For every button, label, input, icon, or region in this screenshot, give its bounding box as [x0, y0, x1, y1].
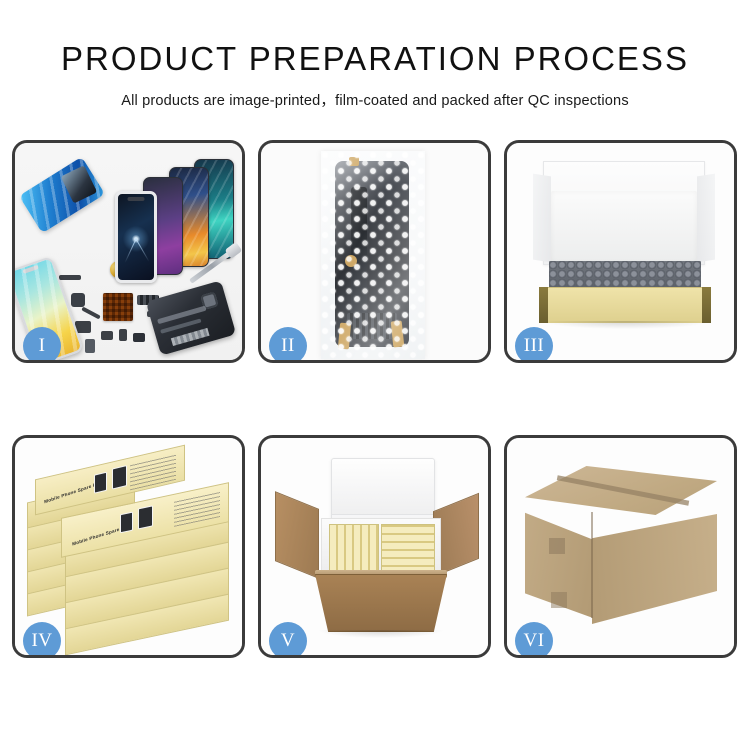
- page-subtitle: All products are image-printed，film-coat…: [0, 89, 750, 110]
- housing-connector: [171, 328, 210, 346]
- carton-flap-mark: [549, 538, 565, 554]
- white-foam-sheet: [551, 191, 697, 263]
- copper-chip-icon: [103, 293, 133, 321]
- screen-burst-graphic: [121, 224, 151, 254]
- retail-boxes-group: [381, 524, 435, 574]
- step-panel-sealed-carton: VI: [504, 435, 737, 658]
- kraft-box-corner: [702, 287, 711, 323]
- box-phone-graphic: [138, 505, 153, 529]
- styrofoam-lid: [331, 458, 435, 520]
- spare-part-icon: [119, 329, 127, 341]
- process-steps-grid: I II: [12, 140, 738, 670]
- retail-boxes-group: [329, 524, 379, 574]
- open-export-carton: [275, 458, 479, 640]
- step-badge-3: III: [515, 327, 553, 363]
- kraft-box-front: [539, 287, 711, 323]
- spare-part-icon: [59, 275, 81, 280]
- tempered-glass-protector-icon: [115, 191, 157, 283]
- product-preparation-infographic: PRODUCT PREPARATION PROCESS All products…: [0, 0, 750, 750]
- phone-fan-group: [93, 157, 242, 297]
- header: PRODUCT PREPARATION PROCESS All products…: [0, 0, 750, 110]
- box-side-flap: [533, 174, 551, 263]
- page-title: PRODUCT PREPARATION PROCESS: [0, 42, 750, 75]
- carton-flap-mark: [551, 592, 567, 608]
- open-inner-box: [529, 161, 719, 331]
- step-badge-5: V: [269, 622, 307, 658]
- step-panel-product-overview: I: [12, 140, 245, 363]
- plastic-glare: [321, 151, 425, 359]
- carton-flap-left: [275, 491, 319, 579]
- carton-vertical-edge: [591, 512, 593, 618]
- carton-body: [315, 574, 447, 632]
- step-badge-2: II: [269, 327, 307, 363]
- step-panel-retail-box-stack: Mobile Phone Spare Parts Mobile Phone Sp…: [12, 435, 245, 658]
- box-spec-lines: [130, 454, 176, 491]
- step-panel-bubble-wrapping: II: [258, 140, 491, 363]
- spare-part-icon: [101, 331, 113, 340]
- step-badge-6: VI: [515, 622, 553, 658]
- spare-part-icon: [85, 339, 95, 353]
- step-panel-carton-loading: V: [258, 435, 491, 658]
- box-spec-lines: [174, 491, 220, 527]
- box-shadow: [543, 321, 709, 329]
- carton-shadow: [319, 630, 443, 638]
- step-badge-1: I: [23, 327, 61, 363]
- spare-part-icon: [133, 333, 145, 342]
- box-phone-graphic: [94, 472, 107, 494]
- retail-box-stack: Mobile Phone Spare Parts Mobile Phone Sp…: [23, 456, 239, 648]
- box-phone-graphic: [120, 512, 133, 534]
- kraft-box-corner: [539, 287, 548, 323]
- step-badge-4: IV: [23, 622, 61, 658]
- spare-part-icon: [71, 293, 85, 307]
- bubble-wrapped-part: [321, 151, 425, 359]
- box-phone-graphic: [112, 465, 127, 489]
- phone-notch: [128, 197, 145, 201]
- step-panel-inner-box-packing: III: [504, 140, 737, 363]
- box-side-flap: [697, 174, 715, 263]
- sealed-shipping-carton: [525, 466, 717, 630]
